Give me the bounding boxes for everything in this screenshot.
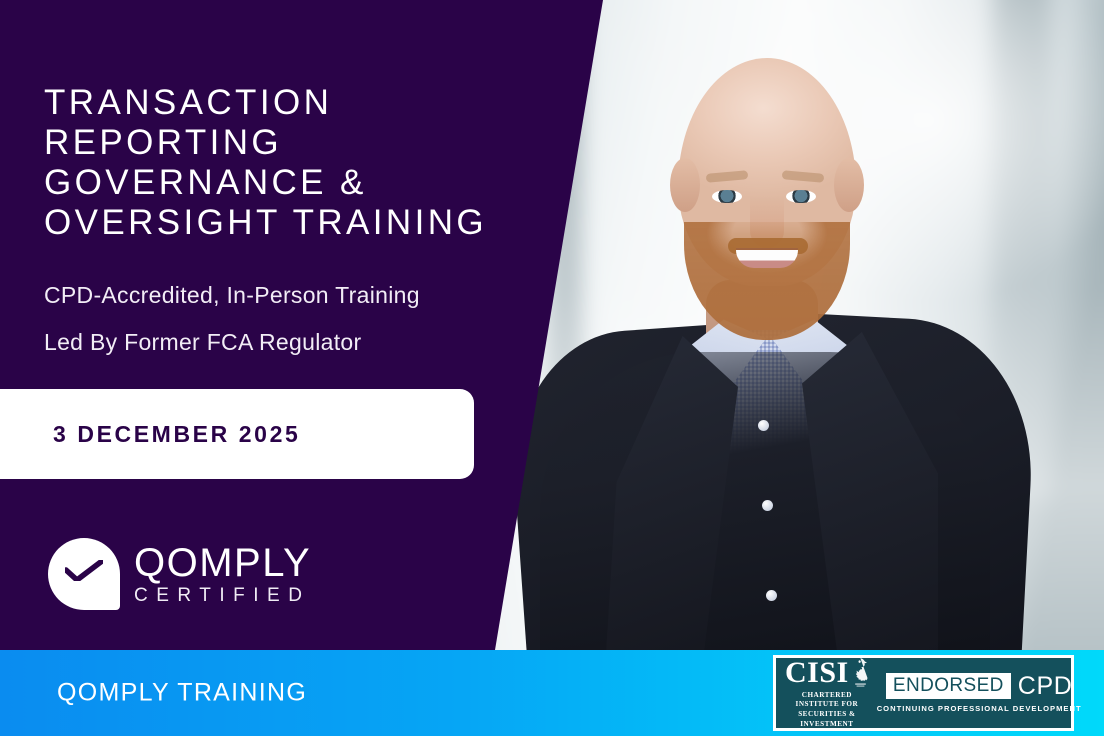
promotional-banner: TRANSACTION REPORTING GOVERNANCE & OVERS… [0,0,1104,736]
bottom-gradient-bar: QOMPLY TRAINING CISI CHARTERED INSTITUTE… [0,650,1104,736]
shirt-button [762,500,773,511]
event-date: 3 December 2025 [53,421,300,448]
logo-name: QOMPLY [134,542,311,584]
smiling-mouth [736,250,798,268]
cisi-endorsed-cpd-badge: CISI CHARTERED INSTITUTE FOR SECURITIES … [773,655,1074,731]
cisi-full-name-line-2: SECURITIES & INVESTMENT [785,710,869,729]
shirt-button [766,590,777,601]
headline-line-1: TRANSACTION [44,83,564,123]
logo-wordmark: QOMPLY CERTIFIED [134,538,311,608]
ear-left [670,158,700,212]
subtitle-line-2: Led By Former FCA Regulator [44,319,420,366]
subtitle: CPD-Accredited, In-Person Training Led B… [44,272,420,366]
footer-brand-label: QOMPLY TRAINING [57,679,307,708]
cisi-full-name: CHARTERED INSTITUTE FOR SECURITIES & INV… [785,691,869,729]
headline-line-3: GOVERNANCE & [44,163,564,203]
cisi-acronym: CISI [785,657,849,689]
cpd-headline-row: ENDORSED CPD [886,673,1072,699]
cpd-expansion-label: CONTINUING PROFESSIONAL DEVELOPMENT [877,704,1082,713]
event-date-card: 3 December 2025 [0,389,474,479]
headline-line-2: REPORTING [44,123,564,163]
ear-right [834,158,864,212]
cpd-label: CPD [1018,673,1073,699]
cisi-identity-block: CISI CHARTERED INSTITUTE FOR SECURITIES … [776,657,869,729]
eye-right [786,190,816,203]
cpd-block: ENDORSED CPD CONTINUING PROFESSIONAL DEV… [877,673,1086,713]
griffin-crest-icon [852,657,869,688]
qomply-certified-logo: QOMPLY CERTIFIED [48,538,311,610]
subtitle-line-1: CPD-Accredited, In-Person Training [44,272,420,319]
cisi-acronym-row: CISI [785,657,869,689]
cisi-full-name-line-1: CHARTERED INSTITUTE FOR [785,691,869,710]
page-title: TRANSACTION REPORTING GOVERNANCE & OVERS… [44,83,564,243]
logo-tagline: CERTIFIED [134,584,311,608]
headline-line-4: OVERSIGHT TRAINING [44,203,564,243]
eye-left [712,190,742,203]
endorsed-label: ENDORSED [886,673,1011,699]
shirt-button [758,420,769,431]
checkmark-icon [65,560,103,581]
check-bubble-icon [48,538,120,610]
